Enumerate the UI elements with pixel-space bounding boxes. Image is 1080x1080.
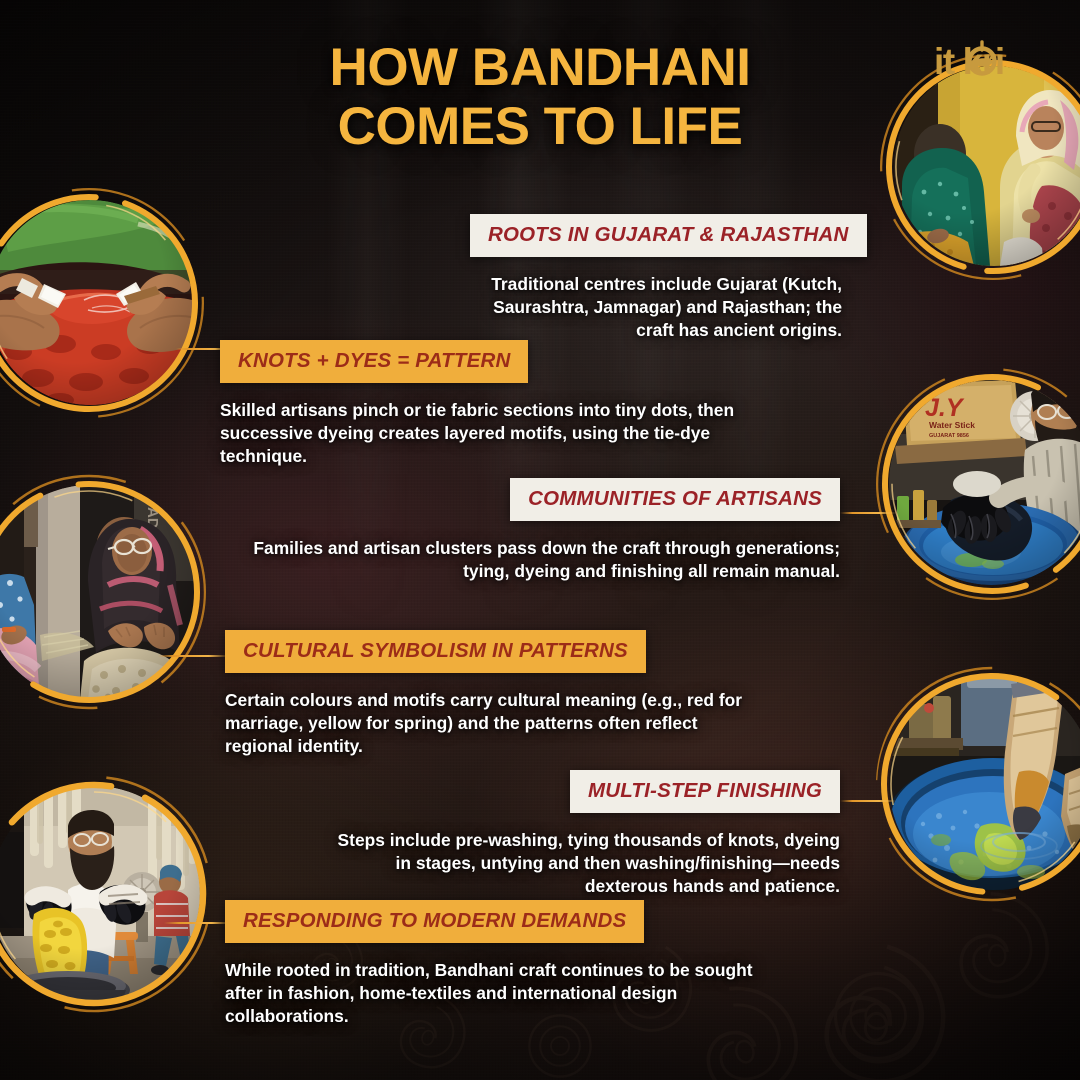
- section-1-body: Traditional centres include Gujarat (Kut…: [470, 273, 842, 342]
- section-2-body: Skilled artisans pinch or tie fabric sec…: [220, 399, 736, 468]
- title-line-2: COMES TO LIFE: [0, 97, 1080, 156]
- section-6-header: RESPONDING TO MODERN DEMANDS: [225, 900, 644, 943]
- section-roots-in-gujarat-rajasthan: ROOTS IN GUJARAT & RAJASTHAN Traditional…: [470, 214, 842, 342]
- brand-logo[interactable]: it kri: [934, 38, 1052, 84]
- section-4-header: CULTURAL SYMBOLISM IN PATTERNS: [225, 630, 646, 673]
- section-knots-dyes-pattern: KNOTS + DYES = PATTERN Skilled artisans …: [220, 340, 736, 468]
- section-6-body: While rooted in tradition, Bandhani craf…: [225, 959, 785, 1028]
- photo-hands-tying-red-fabric: [0, 200, 193, 405]
- infographic-canvas: AD: [0, 0, 1080, 1080]
- connector-line-4: [158, 655, 230, 657]
- section-1-header: ROOTS IN GUJARAT & RAJASTHAN: [470, 214, 867, 257]
- photo-artisan-yellow-fabric: [0, 786, 200, 1001]
- photo-woman-tying-fabric: AD: [0, 485, 194, 700]
- title-line-1: HOW BANDHANI: [0, 38, 1080, 97]
- section-4-body: Certain colours and motifs carry cultura…: [225, 689, 755, 758]
- section-3-body: Families and artisan clusters pass down …: [240, 537, 840, 583]
- connector-line-6: [164, 922, 232, 924]
- section-5-body: Steps include pre-washing, tying thousan…: [318, 829, 840, 898]
- itokri-logo-icon: it kri: [934, 38, 1052, 84]
- section-5-header: MULTI-STEP FINISHING: [570, 770, 840, 813]
- page-title: HOW BANDHANI COMES TO LIFE: [0, 38, 1080, 157]
- section-communities-of-artisans: COMMUNITIES OF ARTISANS Families and art…: [240, 478, 840, 583]
- section-cultural-symbolism-in-patterns: CULTURAL SYMBOLISM IN PATTERNS Certain c…: [225, 630, 755, 758]
- photo-dyer-blue-vat: J.Y Water Stick GUJARAT 9856: [889, 380, 1080, 585]
- connector-line-5: [840, 800, 896, 802]
- connector-line-3: [840, 512, 896, 514]
- photo-indigo-dye-bundles: [889, 676, 1080, 891]
- section-responding-to-modern-demands: RESPONDING TO MODERN DEMANDS While roote…: [225, 900, 785, 1028]
- section-3-header: COMMUNITIES OF ARTISANS: [510, 478, 840, 521]
- section-2-header: KNOTS + DYES = PATTERN: [220, 340, 528, 383]
- section-multi-step-finishing: MULTI-STEP FINISHING Steps include pre-w…: [318, 770, 840, 898]
